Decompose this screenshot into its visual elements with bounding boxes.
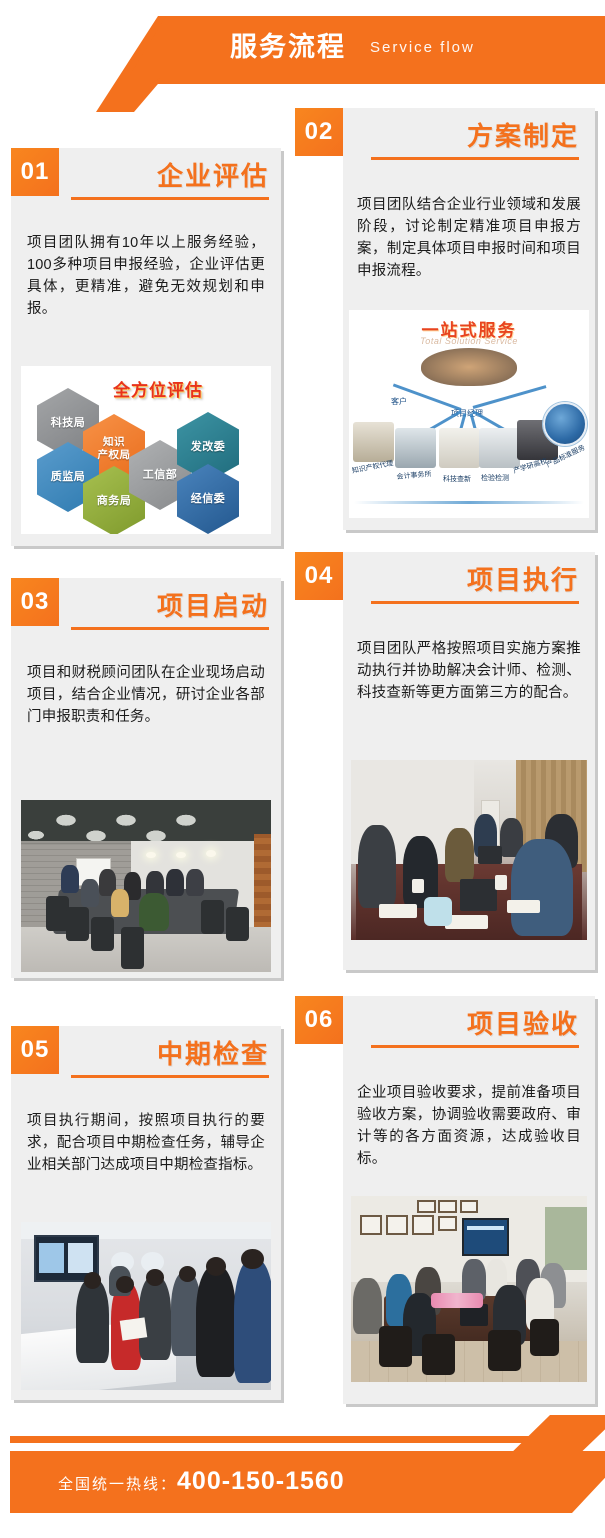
step-badge-01: 01: [11, 148, 59, 196]
photo-chair-2: [66, 907, 89, 941]
photo-head-2: [116, 1276, 134, 1293]
card-title-06: 项目验收: [371, 1008, 579, 1040]
onestop-label-customer: 客户: [391, 396, 407, 407]
photo-chair-4: [121, 927, 144, 968]
step-badge-04: 04: [295, 552, 343, 600]
card-title-03: 项目启动: [71, 590, 269, 622]
title-underline: [71, 627, 269, 630]
photo-cup-2: [495, 875, 507, 889]
service-flow-poster: 服务流程 Service flow 01 企业评估 项目团队拥有10年以上服务经…: [0, 0, 605, 1538]
photo-chair-3: [91, 917, 114, 951]
header-banner: [128, 16, 605, 78]
card-body-06: 企业项目验收要求，提前准备项目验收方案，协调验收需要政府、审计等的各方面资源，达…: [357, 1082, 581, 1170]
hotline-row: 全国统一热线：400-150-1560: [58, 1463, 345, 1503]
photo-presentation-screen: [462, 1218, 509, 1255]
photo-kettle: [424, 897, 452, 926]
photo-brochure: [120, 1318, 148, 1341]
step-badge-06: 06: [295, 996, 343, 1044]
hexagon-chart-title: 全方位评估: [113, 376, 203, 401]
card-body-02: 项目团队结合企业行业领域和发展阶段，讨论制定精准项目申报方案，制定具体项目申报时…: [357, 194, 581, 282]
photo-chair-2: [422, 1334, 455, 1375]
photo-wood-panel: [254, 834, 272, 934]
onestop-node-4: [479, 428, 520, 468]
card-title-05: 中期检查: [71, 1038, 269, 1070]
flow-card-04[interactable]: 04 项目执行 项目团队严格按照项目实施方案推动执行并协助解决会计师、检测、科技…: [343, 552, 595, 970]
onestop-center-photo: [421, 348, 517, 386]
onestop-node-3: [439, 428, 480, 468]
photo-paper-1: [379, 904, 417, 918]
photo-person-6: [196, 1266, 236, 1377]
photo-person-3: [445, 828, 473, 882]
hotline-number: 400-150-1560: [177, 1467, 345, 1495]
photo-head-6: [241, 1249, 264, 1269]
title-underline: [71, 1075, 269, 1078]
header-accent-stripe: [150, 78, 605, 84]
flow-card-02[interactable]: 02 方案制定 项目团队结合企业行业领域和发展阶段，讨论制定精准项目申报方案，制…: [343, 108, 595, 530]
card-body-04: 项目团队严格按照项目实施方案推动执行并协助解决会计师、检测、科技查新等更方面第三…: [357, 638, 581, 704]
card-photo-04: [351, 760, 587, 940]
card-body-05: 项目执行期间，按照项目执行的要求，配合项目中期检查任务，辅导企业相关部门达成项目…: [27, 1110, 265, 1176]
photo-flowers: [431, 1293, 483, 1308]
photo-person-8: [111, 889, 129, 917]
photo-person-3: [81, 879, 99, 907]
onestop-service-infographic: 一站式服务 Total Solution Service 客户 项目经理 知识产…: [349, 310, 589, 518]
photo-person-1: [353, 1278, 381, 1334]
photo-chair-3: [488, 1330, 521, 1371]
card-body-01: 项目团队拥有10年以上服务经验，100多种项目申报经验，企业评估更具体，更精准，…: [27, 232, 265, 320]
onestop-arrow-6: [473, 385, 547, 409]
onestop-node-2: [395, 428, 436, 468]
photo-person-6: [166, 869, 184, 897]
photo-head-3: [146, 1269, 164, 1286]
step-badge-02: 02: [295, 108, 343, 156]
photo-person-1: [61, 865, 79, 893]
flow-card-01[interactable]: 01 企业评估 项目团队拥有10年以上服务经验，100多种项目申报经验，企业评估…: [11, 148, 281, 546]
step-badge-05: 05: [11, 1026, 59, 1074]
flow-card-05[interactable]: 05 中期检查 项目执行期间，按照项目执行的要求，配合项目中期检查任务，辅导企业…: [11, 1026, 281, 1400]
hotline-label: 全国统一热线：: [58, 1476, 177, 1493]
photo-person-1: [358, 825, 396, 908]
photo-certificate-3: [412, 1215, 433, 1235]
flow-card-06[interactable]: 06 项目验收 企业项目验收要求，提前准备项目验收方案，协调验收需要政府、审计等…: [343, 996, 595, 1404]
photo-certificate-5: [438, 1200, 457, 1213]
photo-laptop-2: [478, 846, 502, 864]
card-title-02: 方案制定: [371, 120, 579, 152]
page-title: 服务流程: [230, 26, 346, 68]
photo-head-5: [206, 1257, 226, 1275]
card-photo-05: [21, 1222, 271, 1390]
photo-certificate-6: [438, 1216, 457, 1231]
title-underline: [371, 157, 579, 160]
onestop-node-label-4: 检验检测: [481, 473, 509, 483]
onestop-subtitle: Total Solution Service: [349, 336, 589, 346]
flow-card-03[interactable]: 03 项目启动 项目和财税顾问团队在企业现场启动项目，结合企业情况，研讨企业各部…: [11, 578, 281, 978]
card-title-04: 项目执行: [371, 564, 579, 596]
page-subtitle: Service flow: [370, 34, 475, 62]
assessment-hexagon-chart: 全方位评估 科技局 知识 产权局 质监局 商务局 工信部 发改委 经信委: [21, 366, 271, 534]
photo-person-7: [511, 839, 572, 936]
onestop-node-1: [353, 422, 394, 462]
title-underline: [371, 1045, 579, 1048]
photo-certificate-7: [460, 1200, 479, 1213]
onestop-iso-seal: [543, 402, 587, 446]
photo-light-3: [206, 850, 216, 857]
onestop-node-label-2: 会计事务所: [396, 469, 432, 482]
photo-certificate-4: [417, 1200, 436, 1213]
card-photo-06: [351, 1196, 587, 1382]
photo-laptop-1: [460, 879, 498, 911]
photo-person-7: [234, 1259, 272, 1383]
photo-chair-6: [226, 907, 249, 941]
title-underline: [71, 197, 269, 200]
photo-paper-3: [507, 900, 540, 913]
photo-person-1: [76, 1279, 109, 1363]
card-body-03: 项目和财税顾问团队在企业现场启动项目，结合企业情况，研讨企业各部门申报职责和任务…: [27, 662, 265, 728]
title-underline: [371, 601, 579, 604]
photo-person-7: [186, 869, 204, 897]
photo-ceiling-pattern: [21, 800, 271, 845]
photo-cup-1: [412, 879, 424, 893]
photo-certificate-2: [386, 1215, 407, 1235]
onestop-node-label-3: 科技查新: [443, 474, 471, 484]
photo-chair-1: [379, 1326, 412, 1367]
page-footer: 全国统一热线：400-150-1560: [0, 1403, 605, 1538]
card-title-01: 企业评估: [71, 160, 269, 192]
card-photo-03: [21, 800, 271, 972]
photo-chair-4: [530, 1319, 558, 1356]
onestop-baseline: [354, 501, 584, 504]
photo-chair-5: [201, 900, 224, 934]
footer-accent-stripe: [10, 1436, 570, 1443]
photo-person-9: [139, 893, 169, 931]
page-header: 服务流程 Service flow: [0, 0, 605, 112]
photo-green-wall: [545, 1207, 587, 1270]
step-badge-03: 03: [11, 578, 59, 626]
photo-head-1: [84, 1272, 102, 1289]
photo-certificate-1: [360, 1215, 381, 1235]
